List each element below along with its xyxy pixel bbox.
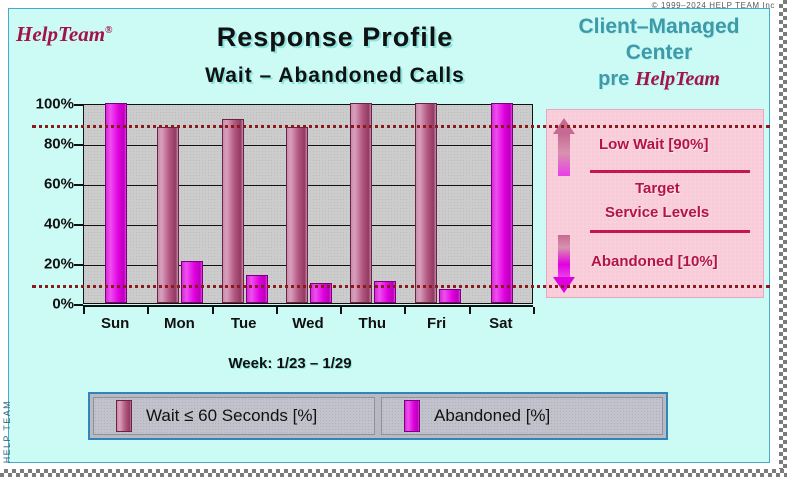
- legend-item[interactable]: Wait ≤ 60 Seconds [%]: [93, 397, 375, 435]
- bar-abandoned: [491, 103, 513, 303]
- bar-slot: [148, 105, 212, 303]
- logo-text: HelpTeam: [16, 22, 105, 46]
- target-line: [32, 285, 770, 288]
- bar-abandoned: [181, 261, 203, 303]
- legend-label: Wait ≤ 60 Seconds [%]: [146, 406, 317, 426]
- gridline: [84, 225, 532, 226]
- y-axis-tick: [74, 184, 83, 186]
- target-line: [32, 125, 770, 128]
- x-axis-label-fri: Fri: [427, 315, 446, 332]
- y-axis-tick: [74, 224, 83, 226]
- bar-wait: [415, 103, 437, 303]
- right-heading-line2: Center: [540, 40, 778, 66]
- y-axis-tick-label: 100%: [36, 96, 74, 113]
- x-axis-tick: [404, 307, 406, 314]
- x-axis-label-sat: Sat: [489, 315, 512, 332]
- page-title: Response Profile: [140, 22, 530, 53]
- bar-wait: [222, 119, 244, 303]
- gridline: [84, 185, 532, 186]
- right-heading-pre: pre: [598, 68, 629, 90]
- target-service-levels-panel: Low Wait [90%] Target Service Levels Aba…: [546, 109, 764, 298]
- service-levels-label: Service Levels: [605, 204, 709, 221]
- legend-swatch: [404, 400, 420, 432]
- legend-label: Abandoned [%]: [434, 406, 550, 426]
- right-heading-line3: pre HelpTeam: [540, 66, 778, 92]
- target-label: Target: [635, 180, 680, 197]
- right-heading-brand: HelpTeam: [635, 68, 720, 90]
- bar-slot: [213, 105, 277, 303]
- x-axis-label-mon: Mon: [164, 315, 195, 332]
- legend-item[interactable]: Abandoned [%]: [381, 397, 663, 435]
- x-axis-label-tue: Tue: [231, 315, 257, 332]
- y-axis-tick-label: 40%: [44, 216, 74, 233]
- plot-area: [83, 104, 533, 304]
- y-axis-tick: [74, 264, 83, 266]
- legend-swatch: [116, 400, 132, 432]
- bar-slot: [341, 105, 405, 303]
- x-axis-tick: [212, 307, 214, 314]
- y-axis-tick-label: 80%: [44, 136, 74, 153]
- x-axis-tick: [533, 307, 535, 314]
- panel-rule-top: [590, 170, 750, 173]
- bar-slot: [84, 105, 148, 303]
- y-axis-tick: [74, 144, 83, 146]
- y-axis-tick: [74, 104, 83, 106]
- right-heading-line1: Client–Managed: [540, 14, 778, 40]
- y-axis-tick: [74, 304, 83, 306]
- page-subtitle: Wait – Abandoned Calls: [140, 64, 530, 88]
- chart-legend: Wait ≤ 60 Seconds [%]Abandoned [%]: [88, 392, 668, 440]
- copyright-text: © 1999–2024 HELP TEAM Inc: [652, 1, 775, 10]
- x-axis-tick: [340, 307, 342, 314]
- screenshot-root: © 1999–2024 HELP TEAM Inc HELP TEAM Help…: [0, 0, 787, 477]
- abandoned-target-label: Abandoned [10%]: [591, 253, 718, 270]
- gridline: [84, 265, 532, 266]
- x-axis-tick: [469, 307, 471, 314]
- y-axis-tick-label: 0%: [52, 296, 74, 313]
- week-label: Week: 1/23 – 1/29: [120, 355, 460, 372]
- gridline: [84, 145, 532, 146]
- x-axis-label-wed: Wed: [292, 315, 323, 332]
- checker-border-right: [779, 0, 787, 477]
- x-axis-label-thu: Thu: [359, 315, 387, 332]
- x-axis-tick: [147, 307, 149, 314]
- x-axis-tick: [83, 307, 85, 314]
- panel-rule-bottom: [590, 230, 750, 233]
- bar-slot: [405, 105, 469, 303]
- bar-group: [84, 105, 532, 303]
- bar-slot: [470, 105, 534, 303]
- x-axis: SunMonTueWedThuFriSat: [83, 305, 533, 333]
- bar-wait: [157, 127, 179, 303]
- bar-abandoned: [439, 289, 461, 303]
- helpteam-logo: HelpTeam®: [16, 22, 113, 47]
- bar-slot: [277, 105, 341, 303]
- x-axis-label-sun: Sun: [101, 315, 129, 332]
- low-wait-label: Low Wait [90%]: [599, 136, 708, 153]
- registered-mark: ®: [105, 25, 112, 36]
- x-axis-tick: [276, 307, 278, 314]
- bar-abandoned: [246, 275, 268, 303]
- bar-abandoned: [105, 103, 127, 303]
- y-axis-tick-label: 20%: [44, 256, 74, 273]
- watermark-text: HELP TEAM: [2, 400, 12, 463]
- bar-wait: [350, 103, 372, 303]
- checker-border-bottom: [0, 469, 787, 477]
- right-heading: Client–Managed Center pre HelpTeam: [540, 14, 778, 92]
- bar-wait: [286, 127, 308, 303]
- y-axis-tick-label: 60%: [44, 176, 74, 193]
